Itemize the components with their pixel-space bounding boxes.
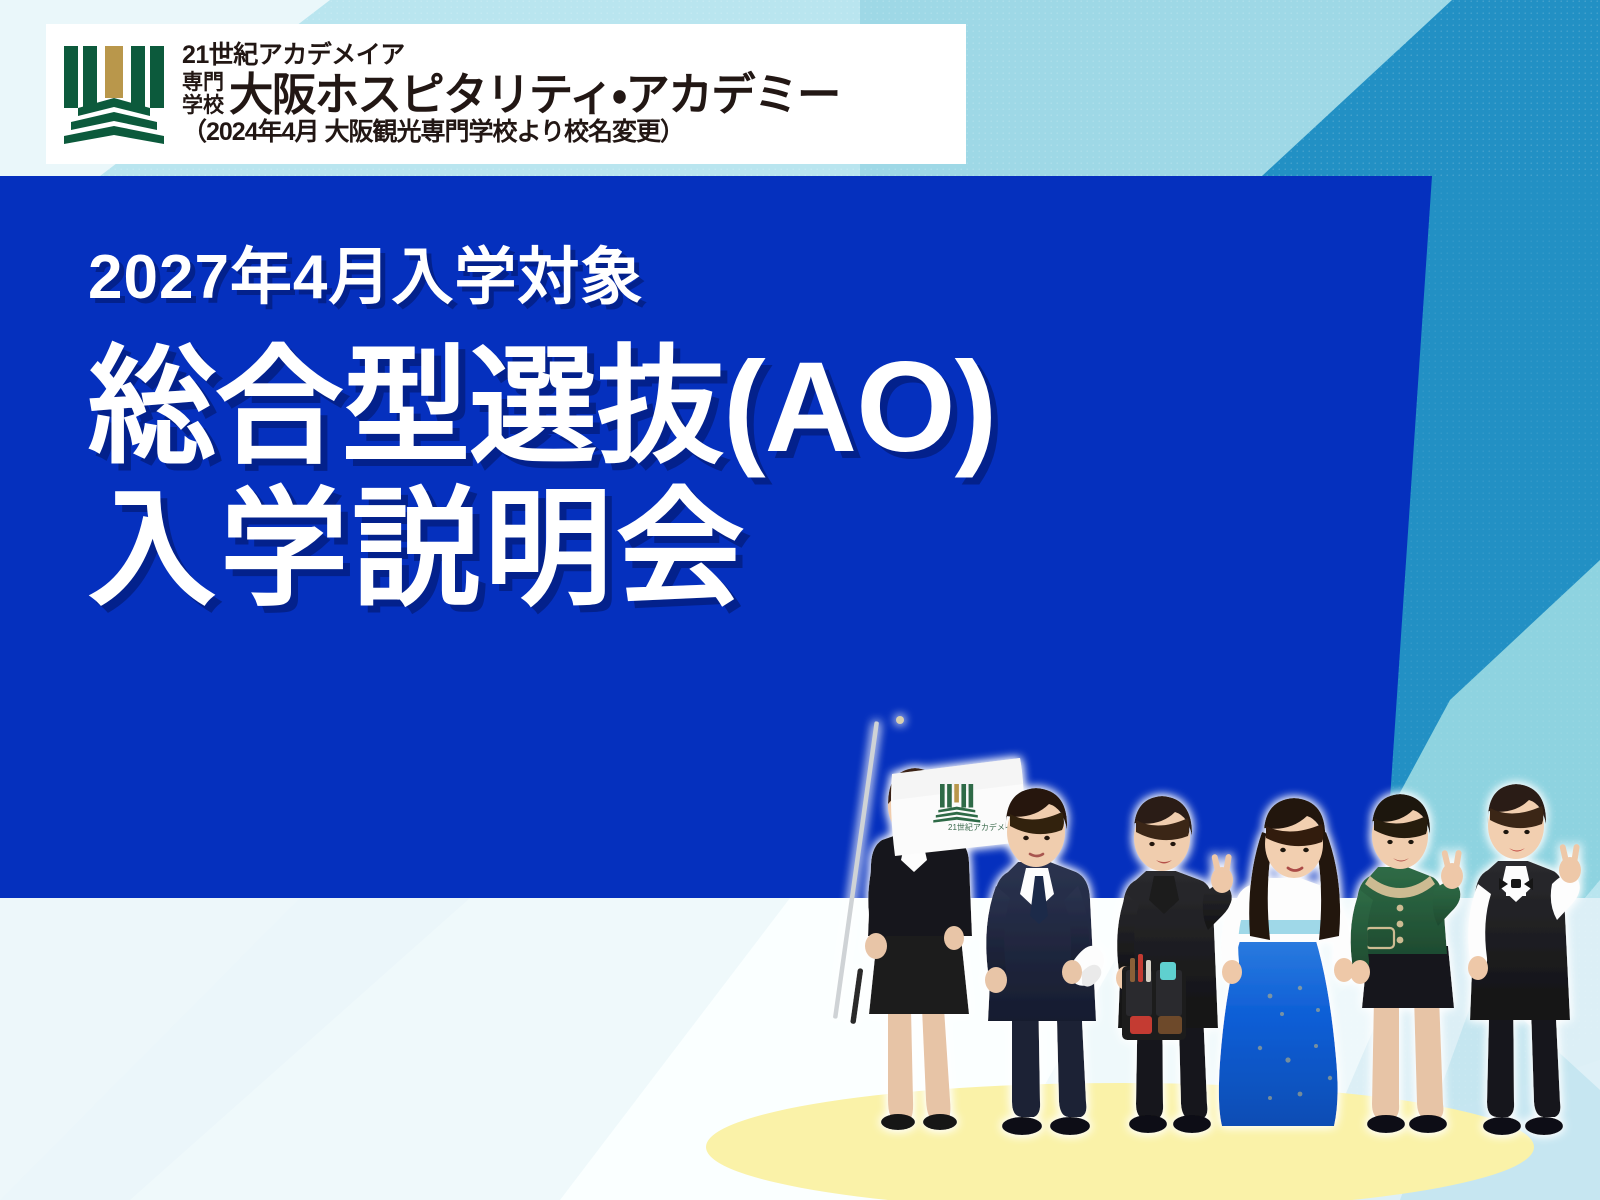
student-hanbok xyxy=(1219,798,1354,1126)
headline-line-1: 総合型選抜(AO) xyxy=(88,334,996,482)
logo-main-row: 専門 学校 大阪ホスピタリティ・アカデミー xyxy=(182,72,849,117)
school-logo-lockup: 21世紀アカデメイア 専門 学校 大阪ホスピタリティ・アカデミー （2024年4… xyxy=(46,24,966,164)
logo-prefix: 専門 学校 xyxy=(182,72,224,117)
peace-sign-hand xyxy=(1211,854,1233,893)
logo-kicker: 21世紀アカデメイア xyxy=(182,43,849,68)
student-green-jacket xyxy=(1350,794,1463,1133)
school-name: 大阪ホスピタリティ・アカデミー xyxy=(229,72,840,117)
academia-gate-logo-icon xyxy=(62,42,168,146)
peace-sign-hand xyxy=(1441,850,1463,889)
headline-line-2: 入学説明会 xyxy=(88,476,996,624)
eyebrow-text: 2027年4月入学対象 xyxy=(88,245,996,312)
promo-banner: 2027年4月入学対象 総合型選抜(AO) 入学説明会 xyxy=(0,0,1600,1200)
student-beautician xyxy=(1116,796,1233,1133)
rename-note: （2024年4月 大阪観光専門学校より校名変更） xyxy=(182,120,849,145)
logo-prefix-line-2: 学校 xyxy=(182,95,224,117)
peace-sign-hand xyxy=(1559,844,1581,883)
student-group-photo: 21世紀アカデメイア xyxy=(830,628,1600,1148)
student-waitstaff xyxy=(1468,784,1581,1135)
headline-group: 2027年4月入学対象 総合型選抜(AO) 入学説明会 xyxy=(88,245,996,625)
logo-prefix-line-1: 専門 xyxy=(182,72,224,94)
logo-text-block: 21世紀アカデメイア 専門 学校 大阪ホスピタリティ・アカデミー （2024年4… xyxy=(182,43,849,145)
